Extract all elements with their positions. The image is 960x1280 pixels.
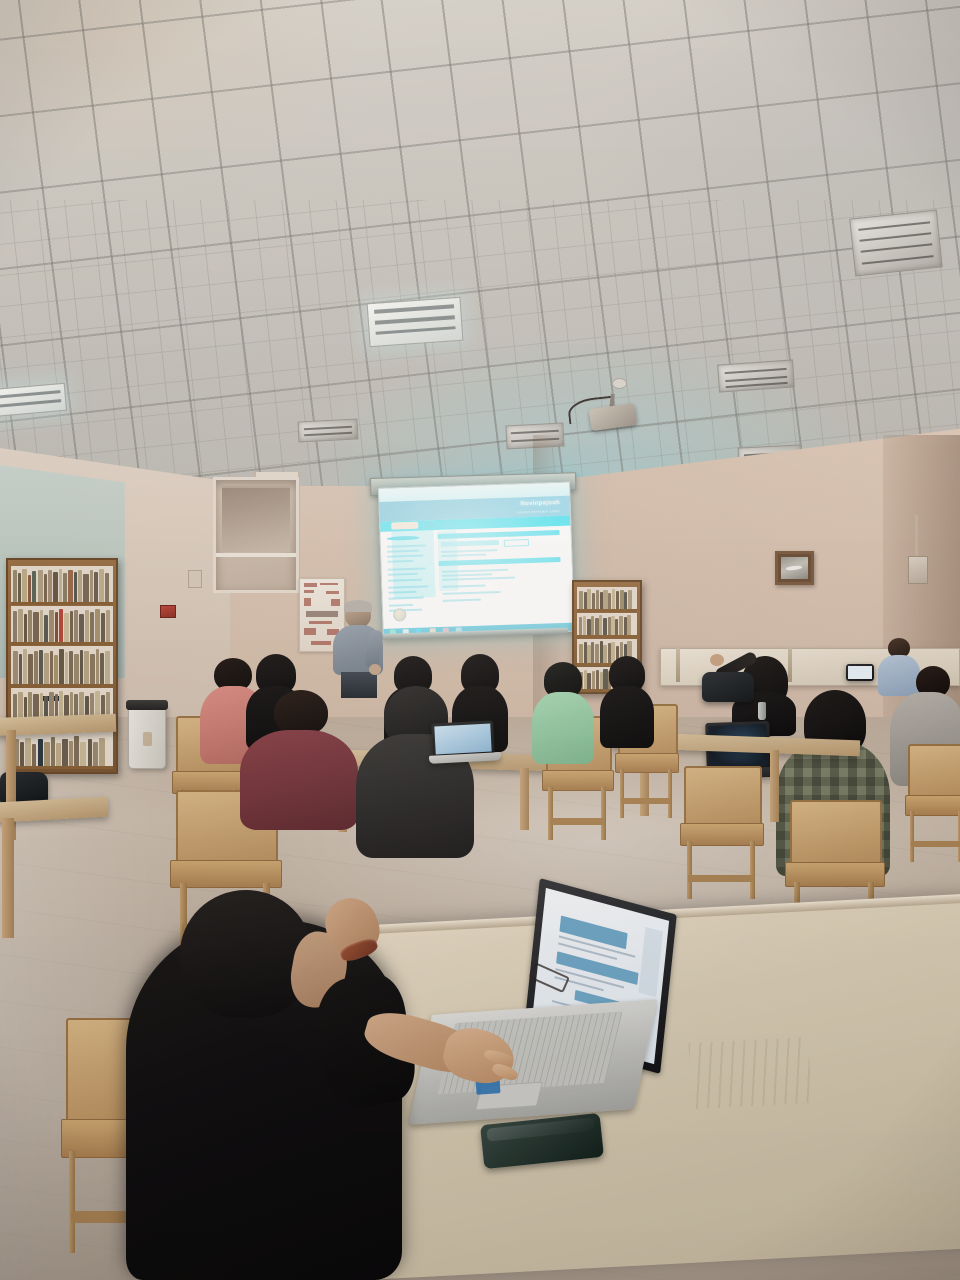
- trash-bin-lid: [126, 700, 168, 710]
- light-fixture-center: [367, 297, 464, 347]
- torso: [240, 730, 358, 830]
- hand: [710, 654, 724, 666]
- chair-right-2: [908, 744, 960, 860]
- table-leg: [770, 750, 779, 822]
- shelf-row: [11, 566, 113, 605]
- library-presentation-photo: Novinpajooh research information system: [0, 0, 960, 1280]
- doc-toolbar: [639, 926, 663, 996]
- shelf-row: [577, 587, 637, 612]
- attendee-maroon-shirt: [240, 690, 358, 830]
- projected-nav-button-active: [392, 522, 419, 530]
- air-vent-left: [297, 418, 358, 442]
- attendee-grey-hoodie: [356, 686, 474, 858]
- attendee-green-top: [532, 662, 594, 764]
- laptop-mid-left: [432, 722, 500, 764]
- water-bottle: [758, 702, 766, 720]
- shelf-row: [11, 606, 113, 645]
- attendee-front-chador: [96, 880, 426, 1280]
- projected-org-seal: [393, 608, 406, 621]
- table-foreground-grain: [688, 1037, 811, 1109]
- wall-conduit: [915, 515, 918, 557]
- hand: [369, 664, 381, 675]
- trash-bin-logo: [143, 732, 152, 746]
- laptop-foreground: [420, 896, 670, 1122]
- shelf-row: [577, 613, 637, 638]
- torso: [532, 692, 594, 764]
- fire-alarm-pull-station: [160, 605, 176, 618]
- backpack-black: [702, 672, 754, 702]
- projection-screen: Novinpajooh research information system: [378, 482, 575, 638]
- projected-sidebar-column: [386, 533, 434, 620]
- smoke-detector: [612, 378, 627, 389]
- ceiling-projector: [582, 392, 644, 434]
- laptop-rear-carrel: [846, 664, 874, 684]
- power-outlet: [188, 570, 202, 588]
- framed-picture: [775, 551, 814, 585]
- head-covered: [180, 890, 312, 1018]
- air-vent-small-right: [717, 359, 795, 392]
- carrel-divider-1: [676, 648, 680, 682]
- table-leg: [2, 818, 14, 938]
- hair: [344, 600, 372, 612]
- torso: [600, 686, 654, 748]
- trash-bin: [128, 705, 166, 769]
- projected-nav-button-tertiary: [443, 520, 457, 528]
- shelf-row: [11, 646, 113, 687]
- air-vent-large-right: [849, 210, 943, 277]
- wall-alcove: [213, 477, 299, 593]
- attendee-hijab-4: [600, 656, 654, 748]
- projected-main-column: [438, 529, 568, 619]
- projected-nav-button-secondary: [422, 521, 439, 529]
- bookshelf-left: [6, 558, 118, 774]
- wall-plate: [908, 556, 928, 584]
- table-leg: [520, 768, 529, 830]
- chair-mid-4: [684, 766, 758, 896]
- presenter: [331, 602, 385, 698]
